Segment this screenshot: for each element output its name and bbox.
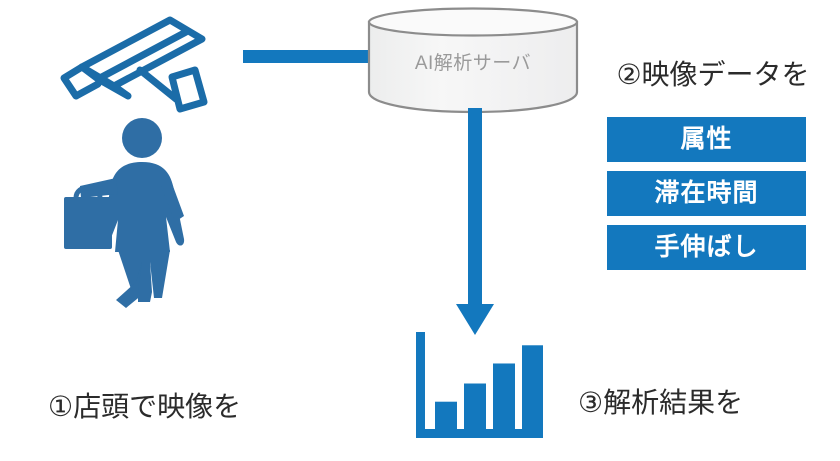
bar-chart-icon [416, 332, 546, 444]
horizontal-connector-line [243, 50, 375, 63]
analysis-badge-dwell-time[interactable]: 滞在時間 [607, 171, 806, 216]
down-arrow-icon [455, 108, 495, 343]
step-3-line-1: ③解析結果を [578, 385, 840, 422]
step-2-line-1: ②映像データを [588, 57, 838, 94]
analysis-badge-attribute[interactable]: 属性 [607, 117, 806, 162]
analysis-badge-list: 属性 滞在時間 手伸ばし [607, 117, 806, 279]
shopper-person-icon [58, 112, 228, 327]
diagram-canvas: AI解析サーバ ①店頭で映像を 撮影 ②映像データを AIが解析 [0, 0, 840, 461]
step-1-line-1: ①店頭で映像を [48, 389, 378, 426]
step-3-caption: ③解析結果を アウトプット [578, 348, 840, 461]
step-1-caption: ①店頭で映像を 撮影 [48, 352, 378, 461]
server-label: AI解析サーバ [366, 48, 580, 75]
security-camera-icon [52, 10, 212, 115]
analysis-badge-reach-out[interactable]: 手伸ばし [607, 225, 806, 270]
